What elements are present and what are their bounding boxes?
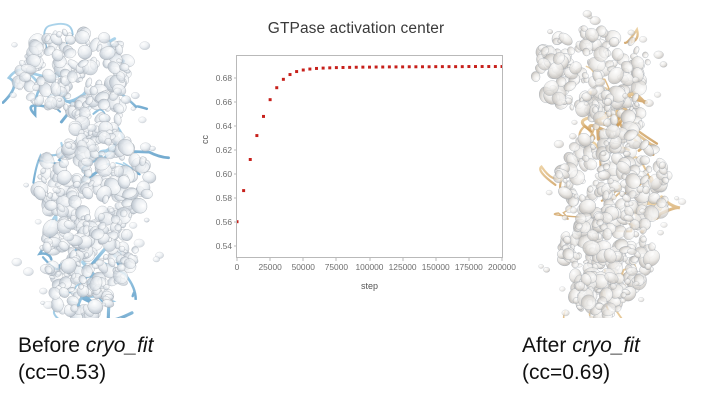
density-blob bbox=[19, 72, 31, 82]
x-axis-label: step bbox=[236, 281, 503, 291]
density-blob-satellite bbox=[660, 62, 667, 68]
x-tick-mark bbox=[369, 257, 370, 261]
density-blob-satellite bbox=[628, 30, 635, 35]
density-blob-satellite bbox=[601, 152, 606, 156]
density-blob-satellite bbox=[620, 299, 625, 303]
density-blob-satellite bbox=[678, 199, 686, 205]
data-point bbox=[434, 65, 437, 68]
data-point bbox=[401, 65, 404, 68]
density-blob-satellite bbox=[139, 117, 147, 123]
density-blob-satellite bbox=[24, 183, 29, 187]
data-point bbox=[375, 66, 378, 69]
density-blob-satellite bbox=[570, 208, 577, 214]
density-blob-satellite bbox=[150, 146, 156, 151]
caption-before-prefix: Before bbox=[18, 334, 86, 357]
y-tick-mark bbox=[234, 125, 238, 126]
density-blob-satellite bbox=[543, 267, 549, 272]
density-blob-satellite bbox=[63, 233, 74, 242]
data-point bbox=[448, 65, 451, 68]
data-point bbox=[242, 189, 245, 192]
density-blob-satellite bbox=[10, 93, 17, 98]
x-tick-mark bbox=[502, 257, 503, 261]
density-blob bbox=[610, 188, 615, 191]
density-blob-satellite bbox=[58, 98, 62, 101]
data-point bbox=[467, 65, 470, 68]
density-blob-satellite bbox=[89, 145, 98, 152]
density-blob-satellite bbox=[638, 297, 644, 302]
density-blob-satellite bbox=[87, 124, 96, 131]
density-blob bbox=[623, 151, 630, 156]
data-point bbox=[335, 66, 338, 69]
scatter-series bbox=[237, 56, 502, 257]
y-tick-label: 0.62 bbox=[216, 145, 232, 155]
density-blob-satellite bbox=[595, 79, 605, 87]
density-blob-satellite bbox=[105, 151, 115, 159]
density-blob bbox=[642, 186, 650, 195]
x-tick-mark bbox=[303, 257, 304, 261]
data-point bbox=[289, 73, 292, 76]
caption-after-italic: cryo_fit bbox=[572, 334, 640, 357]
data-point bbox=[501, 65, 502, 68]
y-tick-label: 0.64 bbox=[216, 121, 232, 131]
x-tick-mark bbox=[270, 257, 271, 261]
data-point bbox=[474, 65, 477, 68]
data-point bbox=[461, 65, 464, 68]
caption-after-cc: (cc=0.69) bbox=[522, 359, 640, 386]
caption-before: Before cryo_fit (cc=0.53) bbox=[18, 332, 153, 386]
x-tick-mark bbox=[435, 257, 436, 261]
density-blob-satellite bbox=[645, 100, 654, 107]
data-point bbox=[269, 98, 272, 101]
density-blob bbox=[642, 52, 648, 58]
density-blob-satellite bbox=[559, 287, 565, 292]
x-tick-label: 0 bbox=[235, 262, 240, 272]
x-tick-label: 175000 bbox=[455, 262, 483, 272]
data-point bbox=[494, 65, 497, 68]
x-tick-label: 200000 bbox=[488, 262, 516, 272]
caption-after-prefix: After bbox=[522, 334, 572, 357]
density-blob bbox=[67, 71, 77, 83]
density-blob-satellite bbox=[632, 77, 639, 83]
data-point bbox=[361, 66, 364, 69]
data-point bbox=[395, 65, 398, 68]
data-point bbox=[262, 115, 265, 118]
density-blob-satellite bbox=[546, 190, 552, 195]
density-blob-satellite bbox=[134, 239, 145, 247]
structure-panel-after bbox=[522, 8, 712, 318]
ribosome-density-map-before-image bbox=[2, 8, 192, 318]
density-blob-satellite bbox=[588, 88, 598, 96]
density-blob-satellite bbox=[654, 51, 664, 59]
density-blob-satellite bbox=[654, 92, 661, 98]
y-tick-label: 0.66 bbox=[216, 97, 232, 107]
x-tick-label: 25000 bbox=[258, 262, 281, 272]
ribosome-density-map-after-image bbox=[522, 8, 712, 318]
data-point bbox=[342, 66, 345, 69]
density-blob-satellite bbox=[96, 260, 104, 266]
data-point bbox=[414, 65, 417, 68]
x-tick-label: 150000 bbox=[422, 262, 450, 272]
density-blob bbox=[110, 41, 118, 48]
density-blob-satellite bbox=[131, 107, 136, 111]
density-blob-satellite bbox=[39, 288, 47, 294]
density-blob-satellite bbox=[569, 133, 576, 139]
data-point bbox=[441, 65, 444, 68]
density-blob bbox=[644, 58, 651, 65]
density-blob-satellite bbox=[12, 42, 18, 47]
density-blob-satellite bbox=[562, 216, 568, 221]
density-blob-satellite bbox=[12, 258, 22, 266]
data-point bbox=[381, 66, 384, 69]
density-blob-satellite bbox=[583, 10, 592, 17]
density-blob bbox=[634, 102, 639, 107]
x-tick-label: 100000 bbox=[356, 262, 384, 272]
density-blob-satellite bbox=[661, 222, 668, 227]
data-point bbox=[328, 66, 331, 69]
y-tick-mark bbox=[234, 149, 238, 150]
y-axis-label: cc bbox=[200, 135, 210, 144]
data-point bbox=[388, 65, 391, 68]
x-tick-mark bbox=[468, 257, 469, 261]
density-blob-satellite bbox=[153, 257, 160, 262]
density-blob-satellite bbox=[639, 36, 647, 42]
density-blob-satellite bbox=[572, 120, 578, 125]
y-tick-mark bbox=[234, 197, 238, 198]
y-tick-label: 0.68 bbox=[216, 73, 232, 83]
data-point bbox=[308, 68, 311, 71]
data-point bbox=[302, 69, 305, 72]
density-blob-satellite bbox=[634, 282, 639, 286]
data-point bbox=[487, 65, 490, 68]
chart-title: GTPase activation center bbox=[196, 20, 516, 38]
caption-after: After cryo_fit (cc=0.69) bbox=[522, 332, 640, 386]
density-blob bbox=[78, 77, 83, 82]
data-point bbox=[355, 66, 358, 69]
density-blob-satellite bbox=[131, 92, 139, 99]
data-point bbox=[421, 65, 424, 68]
x-tick-label: 125000 bbox=[389, 262, 417, 272]
data-point bbox=[348, 66, 351, 69]
data-point bbox=[275, 86, 278, 89]
density-blob-satellite bbox=[674, 196, 679, 200]
x-tick-mark bbox=[336, 257, 337, 261]
data-point bbox=[408, 65, 411, 68]
caption-before-cc: (cc=0.53) bbox=[18, 359, 153, 386]
y-tick-mark bbox=[234, 221, 238, 222]
x-tick-mark bbox=[237, 257, 238, 261]
data-point bbox=[428, 65, 431, 68]
density-blob bbox=[569, 104, 574, 110]
density-blob-satellite bbox=[84, 247, 89, 251]
density-blob-satellite bbox=[658, 230, 664, 235]
density-blob bbox=[48, 192, 53, 198]
data-point bbox=[368, 66, 371, 69]
y-tick-label: 0.60 bbox=[216, 169, 232, 179]
density-blob-satellite bbox=[114, 88, 122, 95]
density-blob-satellite bbox=[144, 218, 149, 222]
data-point bbox=[454, 65, 457, 68]
density-blob-satellite bbox=[44, 301, 54, 309]
density-blob-satellite bbox=[562, 310, 570, 316]
density-blob-satellite bbox=[547, 30, 552, 34]
density-blob bbox=[117, 264, 125, 271]
y-tick-mark bbox=[234, 102, 238, 103]
data-point bbox=[322, 67, 325, 70]
density-blob-satellite bbox=[539, 264, 544, 268]
density-blob-satellite bbox=[140, 42, 150, 50]
density-blob-satellite bbox=[102, 303, 106, 306]
caption-before-italic: cryo_fit bbox=[86, 334, 154, 357]
density-blob-satellite bbox=[121, 96, 131, 104]
density-blob-satellite bbox=[584, 102, 588, 106]
density-blob-satellite bbox=[23, 268, 33, 276]
data-point bbox=[295, 70, 298, 73]
density-blob-satellite bbox=[35, 219, 41, 224]
density-blob-satellite bbox=[628, 202, 633, 206]
data-point bbox=[237, 220, 238, 223]
density-blob-satellite bbox=[554, 140, 564, 148]
y-tick-mark bbox=[234, 245, 238, 246]
structure-panel-before bbox=[2, 8, 192, 318]
y-tick-mark bbox=[234, 173, 238, 174]
data-point bbox=[282, 78, 285, 81]
x-tick-label: 50000 bbox=[292, 262, 315, 272]
y-tick-label: 0.58 bbox=[216, 193, 232, 203]
density-blob-satellite bbox=[129, 222, 137, 228]
density-blob bbox=[110, 162, 116, 169]
x-tick-mark bbox=[402, 257, 403, 261]
cc-convergence-chart: GTPase activation center 0.540.560.580.6… bbox=[196, 6, 516, 306]
y-tick-label: 0.54 bbox=[216, 241, 232, 251]
y-tick-label: 0.56 bbox=[216, 217, 232, 227]
density-blob-satellite bbox=[56, 272, 61, 276]
density-blob-satellite bbox=[640, 209, 646, 214]
data-point bbox=[255, 134, 258, 137]
data-point bbox=[249, 158, 252, 161]
data-point bbox=[481, 65, 484, 68]
density-blob-satellite bbox=[109, 209, 114, 213]
y-tick-mark bbox=[234, 78, 238, 79]
data-point bbox=[315, 67, 318, 70]
x-tick-label: 75000 bbox=[325, 262, 348, 272]
density-blob-satellite bbox=[140, 143, 151, 152]
plot-area: 0.540.560.580.600.620.640.660.68 0250005… bbox=[236, 55, 503, 258]
